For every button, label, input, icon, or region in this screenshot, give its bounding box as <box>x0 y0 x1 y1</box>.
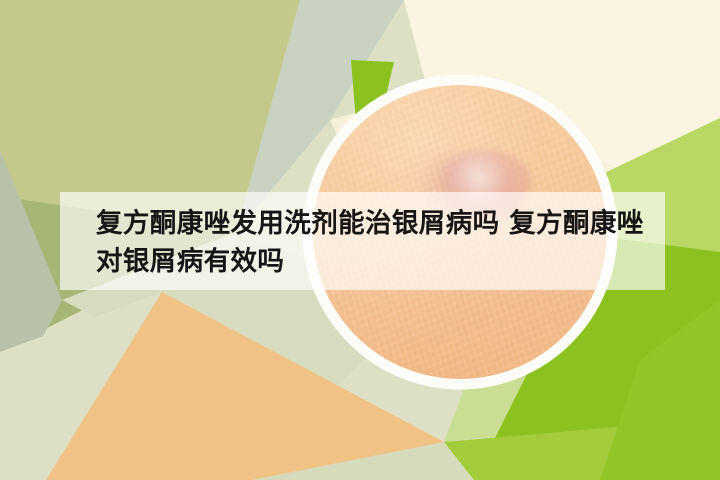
page-title: 复方酮康唑发用洗剂能治银屑病吗 复方酮康唑对银屑病有效吗 <box>96 205 665 281</box>
article-cover-image: 复方酮康唑发用洗剂能治银屑病吗 复方酮康唑对银屑病有效吗 <box>0 0 720 480</box>
title-overlay-band: 复方酮康唑发用洗剂能治银屑病吗 复方酮康唑对银屑病有效吗 <box>60 192 665 290</box>
